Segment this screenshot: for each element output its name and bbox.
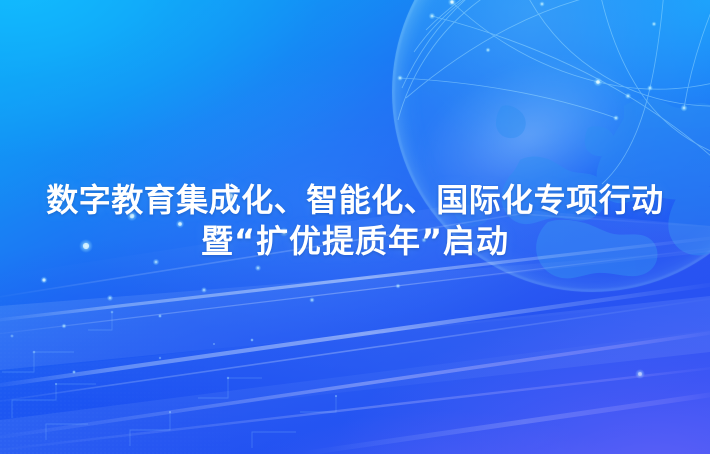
title-line-primary: 数字教育集成化、智能化、国际化专项行动 — [0, 180, 710, 221]
title-line-secondary: 暨“扩优提质年”启动 — [0, 221, 710, 262]
page-title: 数字教育集成化、智能化、国际化专项行动 暨“扩优提质年”启动 — [0, 180, 710, 262]
education-campaign-banner: 数字教育集成化、智能化、国际化专项行动 暨“扩优提质年”启动 — [0, 0, 710, 454]
